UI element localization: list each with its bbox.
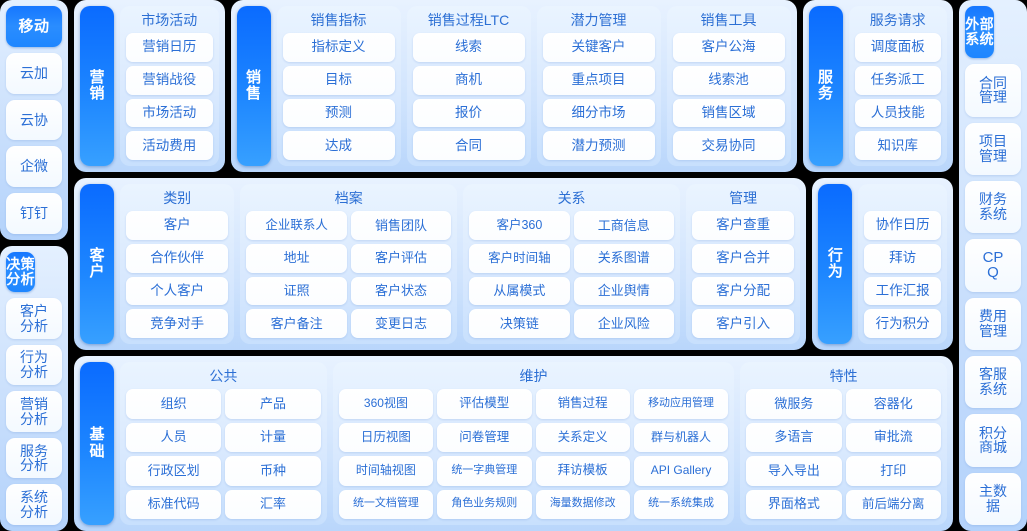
group-服务请求: 服务请求调度面板任务派工人员技能知识库 — [849, 6, 948, 166]
item-潜力预测[interactable]: 潜力预测 — [543, 131, 655, 160]
group-市场活动: 市场活动营销日历营销战役市场活动活动费用 — [120, 6, 219, 166]
group-items: 线索商机报价合同 — [413, 33, 525, 160]
item-合同[interactable]: 合同 — [413, 131, 525, 160]
item-关系图谱[interactable]: 关系图谱 — [574, 244, 674, 273]
item-币种[interactable]: 币种 — [225, 456, 320, 486]
item-拜访[interactable]: 拜访 — [864, 244, 941, 273]
group-关系: 关系客户360工商信息客户时间轴关系图谱从属模式企业舆情决策链企业风险 — [463, 184, 680, 344]
item-标准代码[interactable]: 标准代码 — [126, 490, 221, 520]
item-工作汇报[interactable]: 工作汇报 — [864, 277, 941, 306]
row-foundation: 基础公共组织产品人员计量行政区划币种标准代码汇率维护360视图评估模型销售过程移… — [74, 356, 953, 531]
item-客户状态[interactable]: 客户状态 — [351, 277, 451, 306]
item-群与机器人[interactable]: 群与机器人 — [634, 423, 728, 453]
item-组织[interactable]: 组织 — [126, 389, 221, 419]
item-活动费用[interactable]: 活动费用 — [126, 131, 213, 160]
group-items: 360视图评估模型销售过程移动应用管理日历视图问卷管理关系定义群与机器人时间轴视… — [339, 389, 729, 519]
item-关键客户[interactable]: 关键客户 — [543, 33, 655, 62]
item-产品[interactable]: 产品 — [225, 389, 320, 419]
row-customer: 客户类别客户合作伙伴个人客户竞争对手档案企业联系人销售团队地址客户评估证照客户状… — [74, 178, 953, 350]
item-客户引入[interactable]: 客户引入 — [692, 309, 794, 338]
group-潜力管理: 潜力管理关键客户重点项目细分市场潜力预测 — [537, 6, 661, 166]
rail-header-移动: 移动 — [6, 6, 62, 47]
group-title-潜力管理: 潜力管理 — [543, 10, 655, 33]
item-任务派工[interactable]: 任务派工 — [855, 66, 942, 95]
domain-label-销售[interactable]: 销售 — [237, 6, 271, 166]
item-协作日历[interactable]: 协作日历 — [864, 211, 941, 240]
group-title-管理: 管理 — [692, 188, 794, 211]
item-企业舆情[interactable]: 企业舆情 — [574, 277, 674, 306]
group-特性: 特性微服务容器化多语言审批流导入导出打印界面格式前后端分离 — [740, 362, 947, 525]
item-商机[interactable]: 商机 — [413, 66, 525, 95]
group-title-销售工具: 销售工具 — [673, 10, 785, 33]
item-客户合并[interactable]: 客户合并 — [692, 244, 794, 273]
group-title-服务请求: 服务请求 — [855, 10, 942, 33]
group-title-维护: 维护 — [339, 366, 729, 389]
domain-label-text: 客户 — [90, 248, 105, 280]
item-调度面板[interactable]: 调度面板 — [855, 33, 942, 62]
item-时间轴视图[interactable]: 时间轴视图 — [339, 456, 433, 486]
item-预测[interactable]: 预测 — [283, 99, 395, 128]
item-重点项目[interactable]: 重点项目 — [543, 66, 655, 95]
rail-item-服务分析[interactable]: 服务分析 — [6, 438, 62, 479]
item-人员技能[interactable]: 人员技能 — [855, 99, 942, 128]
rail-panel-决策分析: 决策分析客户分析行为分析营销分析服务分析系统分析 — [0, 246, 68, 531]
group-items: 组织产品人员计量行政区划币种标准代码汇率 — [126, 389, 321, 519]
domain-panel-服务: 服务服务请求调度面板任务派工人员技能知识库 — [803, 0, 954, 172]
rail-item-CPQ[interactable]: CPQ — [965, 239, 1021, 291]
group-items: 客户查重客户合并客户分配客户引入 — [692, 211, 794, 338]
item-销售过程[interactable]: 销售过程 — [536, 389, 630, 419]
item-企业联系人[interactable]: 企业联系人 — [246, 211, 346, 240]
item-达成[interactable]: 达成 — [283, 131, 395, 160]
rail-item-客户分析[interactable]: 客户分析 — [6, 298, 62, 339]
group-公共: 公共组织产品人员计量行政区划币种标准代码汇率 — [120, 362, 327, 525]
item-客户分配[interactable]: 客户分配 — [692, 277, 794, 306]
rail-item-客服系统[interactable]: 客服系统 — [965, 356, 1021, 408]
group-title-档案: 档案 — [246, 188, 451, 211]
rail-item-营销分析[interactable]: 营销分析 — [6, 391, 62, 432]
item-从属模式[interactable]: 从属模式 — [469, 277, 569, 306]
group-title-类别: 类别 — [126, 188, 228, 211]
item-合作伙伴[interactable]: 合作伙伴 — [126, 244, 228, 273]
item-销售团队[interactable]: 销售团队 — [351, 211, 451, 240]
item-容器化[interactable]: 容器化 — [846, 389, 941, 419]
item-细分市场[interactable]: 细分市场 — [543, 99, 655, 128]
item-营销日历[interactable]: 营销日历 — [126, 33, 213, 62]
group-items: 客户公海线索池销售区域交易协同 — [673, 33, 785, 160]
row-sales: 营销市场活动营销日历营销战役市场活动活动费用销售销售指标指标定义目标预测达成销售… — [74, 0, 953, 172]
item-线索[interactable]: 线索 — [413, 33, 525, 62]
item-微服务[interactable]: 微服务 — [746, 389, 841, 419]
group-items: 调度面板任务派工人员技能知识库 — [855, 33, 942, 160]
item-API Gallery[interactable]: API Gallery — [634, 456, 728, 486]
rail-item-积分商城[interactable]: 积分商城 — [965, 414, 1021, 466]
rail-item-系统分析[interactable]: 系统分析 — [6, 484, 62, 525]
group-title-市场活动: 市场活动 — [126, 10, 213, 33]
group-销售工具: 销售工具客户公海线索池销售区域交易协同 — [667, 6, 791, 166]
item-关系定义[interactable]: 关系定义 — [536, 423, 630, 453]
rail-panel-外部系统: 外部系统合同管理项目管理财务系统CPQ费用管理客服系统积分商城主数据 — [959, 0, 1027, 531]
rail-item-云加[interactable]: 云加 — [6, 53, 62, 94]
rail-item-云协[interactable]: 云协 — [6, 100, 62, 141]
domain-label-服务[interactable]: 服务 — [809, 6, 843, 166]
domain-panel-营销: 营销市场活动营销日历营销战役市场活动活动费用 — [74, 0, 225, 172]
item-移动应用管理[interactable]: 移动应用管理 — [634, 389, 728, 419]
item-指标定义[interactable]: 指标定义 — [283, 33, 395, 62]
domain-label-客户[interactable]: 客户 — [80, 184, 114, 344]
domain-panel-客户: 客户类别客户合作伙伴个人客户竞争对手档案企业联系人销售团队地址客户评估证照客户状… — [74, 178, 806, 350]
group-销售过程LTC: 销售过程LTC线索商机报价合同 — [407, 6, 531, 166]
item-交易协同[interactable]: 交易协同 — [673, 131, 785, 160]
rail-item-企微[interactable]: 企微 — [6, 146, 62, 187]
group-items: 客户合作伙伴个人客户竞争对手 — [126, 211, 228, 338]
item-人员[interactable]: 人员 — [126, 423, 221, 453]
item-客户查重[interactable]: 客户查重 — [692, 211, 794, 240]
item-角色业务规则[interactable]: 角色业务规则 — [437, 490, 531, 520]
rail-header-外部系统: 外部系统 — [965, 6, 994, 58]
item-统一文档管理[interactable]: 统一文档管理 — [339, 490, 433, 520]
rail-item-钉钉[interactable]: 钉钉 — [6, 193, 62, 234]
rail-item-项目管理[interactable]: 项目管理 — [965, 123, 1021, 175]
item-统一字典管理[interactable]: 统一字典管理 — [437, 456, 531, 486]
item-多语言[interactable]: 多语言 — [746, 423, 841, 453]
item-客户公海[interactable]: 客户公海 — [673, 33, 785, 62]
group-档案: 档案企业联系人销售团队地址客户评估证照客户状态客户备注变更日志 — [240, 184, 457, 344]
group-items: 微服务容器化多语言审批流导入导出打印界面格式前后端分离 — [746, 389, 941, 519]
group-items: 指标定义目标预测达成 — [283, 33, 395, 160]
item-客户360[interactable]: 客户360 — [469, 211, 569, 240]
item-问卷管理[interactable]: 问卷管理 — [437, 423, 531, 453]
item-审批流[interactable]: 审批流 — [846, 423, 941, 453]
item-市场活动[interactable]: 市场活动 — [126, 99, 213, 128]
rail-header-决策分析: 决策分析 — [6, 252, 35, 293]
item-线索池[interactable]: 线索池 — [673, 66, 785, 95]
group-items: 协作日历拜访工作汇报行为积分 — [864, 211, 941, 338]
rail-panel-移动: 移动云加云协企微钉钉 — [0, 0, 68, 240]
item-海量数据修改[interactable]: 海量数据修改 — [536, 490, 630, 520]
domain-label-基础[interactable]: 基础 — [80, 362, 114, 525]
domain-panel-行为: 行为 协作日历拜访工作汇报行为积分 — [812, 178, 953, 350]
domain-label-text: 基础 — [90, 427, 105, 459]
item-打印[interactable]: 打印 — [846, 456, 941, 486]
item-统一系统集成[interactable]: 统一系统集成 — [634, 490, 728, 520]
group-title-关系: 关系 — [469, 188, 674, 211]
item-报价[interactable]: 报价 — [413, 99, 525, 128]
group-管理: 管理客户查重客户合并客户分配客户引入 — [686, 184, 800, 344]
rail-item-行为分析[interactable]: 行为分析 — [6, 345, 62, 386]
left-rail: 移动云加云协企微钉钉决策分析客户分析行为分析营销分析服务分析系统分析 — [0, 0, 68, 531]
group-items: 客户360工商信息客户时间轴关系图谱从属模式企业舆情决策链企业风险 — [469, 211, 674, 338]
domain-label-text: 行为 — [828, 248, 843, 280]
domain-label-行为[interactable]: 行为 — [818, 184, 852, 344]
group-行为: 协作日历拜访工作汇报行为积分 — [858, 184, 947, 344]
rail-item-主数据[interactable]: 主数据 — [965, 473, 1021, 525]
item-地址[interactable]: 地址 — [246, 244, 346, 273]
item-工商信息[interactable]: 工商信息 — [574, 211, 674, 240]
domain-panel-销售: 销售销售指标指标定义目标预测达成销售过程LTC线索商机报价合同潜力管理关键客户重… — [231, 0, 797, 172]
item-销售区域[interactable]: 销售区域 — [673, 99, 785, 128]
group-维护: 维护360视图评估模型销售过程移动应用管理日历视图问卷管理关系定义群与机器人时间… — [333, 362, 735, 525]
group-items: 营销日历营销战役市场活动活动费用 — [126, 33, 213, 160]
item-竞争对手[interactable]: 竞争对手 — [126, 309, 228, 338]
item-日历视图[interactable]: 日历视图 — [339, 423, 433, 453]
right-rail: 外部系统合同管理项目管理财务系统CPQ费用管理客服系统积分商城主数据 — [959, 0, 1027, 531]
item-客户[interactable]: 客户 — [126, 211, 228, 240]
item-客户时间轴[interactable]: 客户时间轴 — [469, 244, 569, 273]
item-汇率[interactable]: 汇率 — [225, 490, 320, 520]
domain-label-text: 服务 — [818, 70, 833, 102]
rail-item-合同管理[interactable]: 合同管理 — [965, 64, 1021, 116]
group-title-公共: 公共 — [126, 366, 321, 389]
rail-item-费用管理[interactable]: 费用管理 — [965, 298, 1021, 350]
item-行为积分[interactable]: 行为积分 — [864, 309, 941, 338]
rail-item-财务系统[interactable]: 财务系统 — [965, 181, 1021, 233]
group-items: 企业联系人销售团队地址客户评估证照客户状态客户备注变更日志 — [246, 211, 451, 338]
group-销售指标: 销售指标指标定义目标预测达成 — [277, 6, 401, 166]
architecture-canvas: 移动云加云协企微钉钉决策分析客户分析行为分析营销分析服务分析系统分析 营销市场活… — [0, 0, 1027, 531]
item-变更日志[interactable]: 变更日志 — [351, 309, 451, 338]
item-目标[interactable]: 目标 — [283, 66, 395, 95]
item-评估模型[interactable]: 评估模型 — [437, 389, 531, 419]
item-企业风险[interactable]: 企业风险 — [574, 309, 674, 338]
main-grid: 营销市场活动营销日历营销战役市场活动活动费用销售销售指标指标定义目标预测达成销售… — [74, 0, 953, 531]
group-title-销售过程LTC: 销售过程LTC — [413, 10, 525, 33]
group-title-销售指标: 销售指标 — [283, 10, 395, 33]
group-title-特性: 特性 — [746, 366, 941, 389]
group-类别: 类别客户合作伙伴个人客户竞争对手 — [120, 184, 234, 344]
group-items: 关键客户重点项目细分市场潜力预测 — [543, 33, 655, 160]
item-客户备注[interactable]: 客户备注 — [246, 309, 346, 338]
item-客户评估[interactable]: 客户评估 — [351, 244, 451, 273]
domain-label-营销[interactable]: 营销 — [80, 6, 114, 166]
domain-label-text: 销售 — [246, 70, 261, 102]
domain-label-text: 营销 — [90, 70, 105, 102]
domain-panel-基础: 基础公共组织产品人员计量行政区划币种标准代码汇率维护360视图评估模型销售过程移… — [74, 356, 953, 531]
item-导入导出[interactable]: 导入导出 — [746, 456, 841, 486]
item-行政区划[interactable]: 行政区划 — [126, 456, 221, 486]
item-证照[interactable]: 证照 — [246, 277, 346, 306]
item-决策链[interactable]: 决策链 — [469, 309, 569, 338]
item-计量[interactable]: 计量 — [225, 423, 320, 453]
item-界面格式[interactable]: 界面格式 — [746, 490, 841, 520]
item-拜访模板[interactable]: 拜访模板 — [536, 456, 630, 486]
item-营销战役[interactable]: 营销战役 — [126, 66, 213, 95]
item-知识库[interactable]: 知识库 — [855, 131, 942, 160]
item-个人客户[interactable]: 个人客户 — [126, 277, 228, 306]
item-360视图[interactable]: 360视图 — [339, 389, 433, 419]
item-前后端分离[interactable]: 前后端分离 — [846, 490, 941, 520]
